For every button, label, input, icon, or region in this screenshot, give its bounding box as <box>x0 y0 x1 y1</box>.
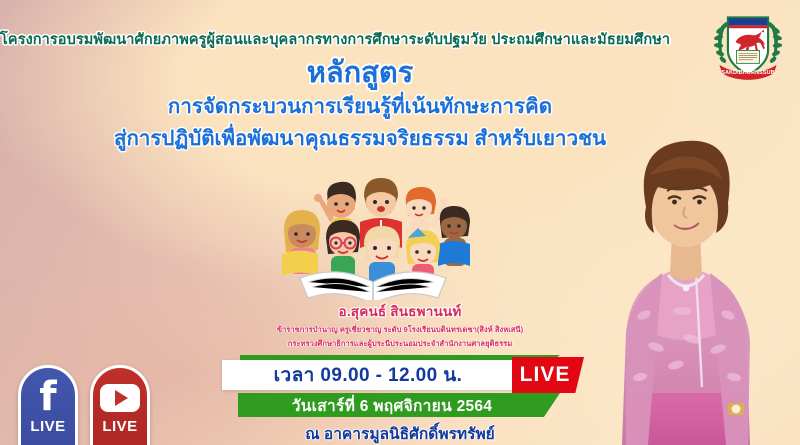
children-reading-illustration <box>268 160 478 300</box>
schedule-bars: เวลา 09.00 - 12.00 น. LIVE วันเสาร์ที่ 6… <box>0 355 800 445</box>
title-block: หลักสูตร การจัดกระบวนการเรียนรู้ที่เน้นท… <box>60 58 660 150</box>
svg-text:SAKDIBHORNSSUB: SAKDIBHORNSSUB <box>721 70 774 76</box>
program-headline: โครงการอบรมพัฒนาศักยภาพครูผู้สอนและบุคลา… <box>0 28 660 51</box>
page-title: หลักสูตร <box>60 58 660 89</box>
speaker-credential-1: ข้าราชการบำนาญ ครูเชี่ยวชาญ ระดับ 9โรงเร… <box>200 324 600 336</box>
speaker-info: อ.สุคนธ์ สินธพานนท์ ข้าราชการบำนาญ ครูเช… <box>200 300 600 350</box>
date-bar: วันเสาร์ที่ 6 พฤศจิกายน 2564 <box>238 393 560 417</box>
session-time: เวลา 09.00 - 12.00 น. <box>222 360 514 390</box>
speaker-name: อ.สุคนธ์ สินธพานนท์ <box>200 300 600 322</box>
live-badge-label: LIVE <box>520 363 571 387</box>
title-line-1: การจัดกระบวนการเรียนรู้ที่เน้นทักษะการคิ… <box>60 95 660 119</box>
live-badge: LIVE <box>512 357 584 393</box>
speaker-credential-2: กระทรวงศึกษาธิการและผู้ประนีประนอมประจำส… <box>200 338 600 350</box>
title-line-2: สู่การปฏิบัติเพื่อพัฒนาคุณธรรมจริยธรรม ส… <box>60 127 660 151</box>
session-venue: ณ อาคารมูลนิธิศักดิ์พรทรัพย์ <box>200 421 600 445</box>
session-date: วันเสาร์ที่ 6 พฤศจิกายน 2564 <box>292 393 493 418</box>
webinar-poster: โครงการอบรมพัฒนาศักยภาพครูผู้สอนและบุคลา… <box>0 0 800 445</box>
sakdibhornssub-crest-logo: SAKDIBHORNSSUB <box>712 6 784 82</box>
